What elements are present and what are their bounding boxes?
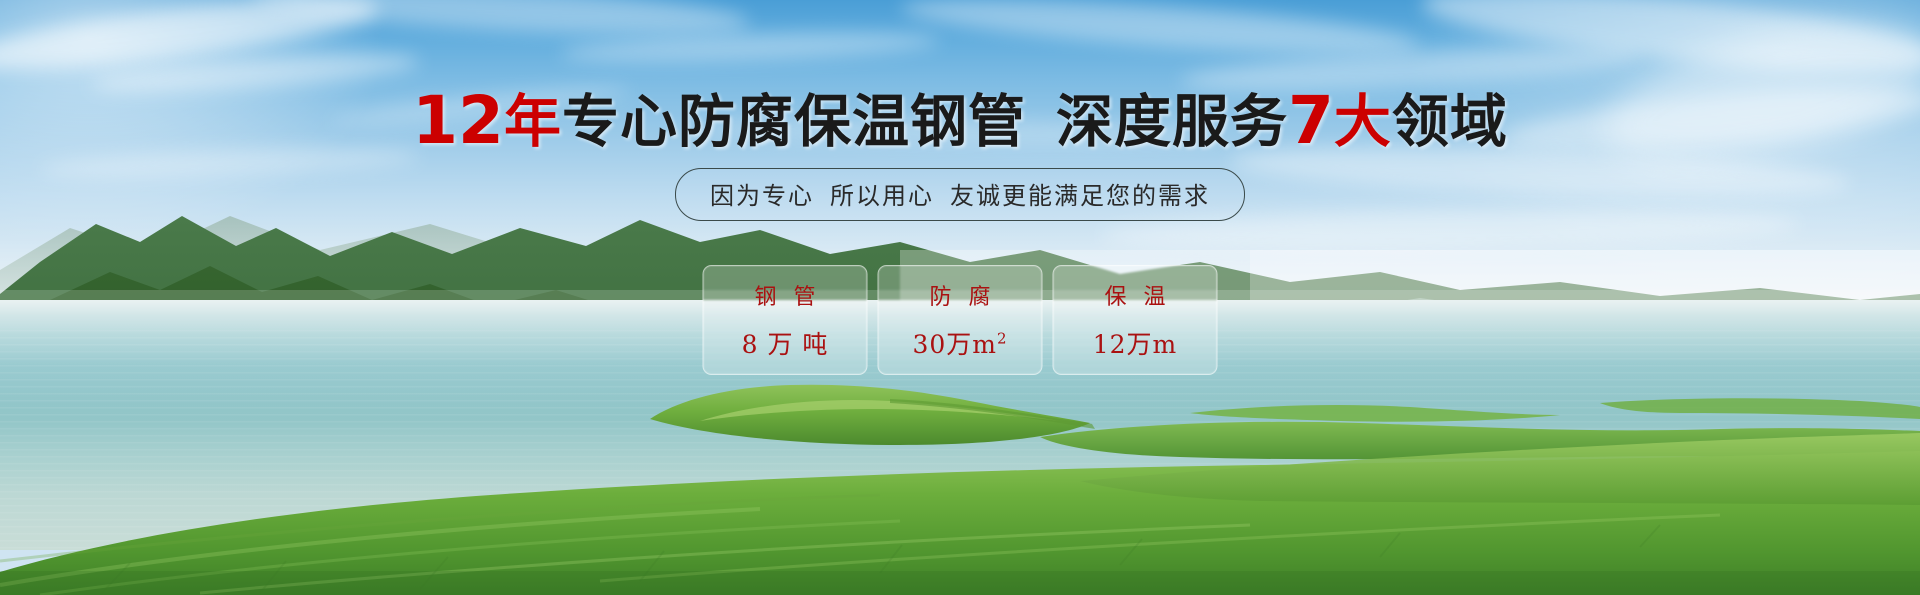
- stat-value-text: 8 万 吨: [742, 330, 829, 359]
- subtitle-part-3: 友诚更能满足您的需求: [950, 182, 1210, 210]
- stat-card-title: 防 腐: [925, 279, 996, 311]
- headline-years-unit: 年: [504, 89, 562, 155]
- headline-main-text: 专心防腐保温钢管: [562, 89, 1026, 155]
- hero-banner: 12年专心防腐保温钢管深度服务7大领域 因为专心所以用心友诚更能满足您的需求 钢…: [0, 0, 1920, 595]
- banner-headline: 12年专心防腐保温钢管深度服务7大领域: [0, 88, 1920, 154]
- stat-card-title: 钢 管: [750, 279, 821, 311]
- stat-card-value: 12万m: [1093, 325, 1178, 361]
- subtitle-part-2: 所以用心: [830, 182, 934, 210]
- banner-subtitle-pill: 因为专心所以用心友诚更能满足您的需求: [675, 168, 1245, 221]
- headline-service-text: 深度服务: [1056, 89, 1288, 155]
- headline-fields-unit: 大: [1334, 89, 1392, 155]
- stat-value-text: 12万m: [1093, 330, 1178, 359]
- stat-value-text: 30万m: [912, 330, 997, 359]
- stat-card-value: 8 万 吨: [742, 325, 829, 361]
- subtitle-part-1: 因为专心: [710, 182, 814, 210]
- stat-card-steel-pipe: 钢 管 8 万 吨: [703, 265, 868, 375]
- headline-fields-number: 7: [1288, 82, 1334, 159]
- stat-card-title: 保 温: [1100, 279, 1171, 311]
- stat-card-list: 钢 管 8 万 吨 防 腐 30万m2 保 温 12万m: [703, 265, 1218, 375]
- stat-card-value: 30万m2: [912, 325, 1007, 361]
- stat-value-superscript: 2: [997, 330, 1008, 348]
- stat-card-anticorrosion: 防 腐 30万m2: [878, 265, 1043, 375]
- stat-card-insulation: 保 温 12万m: [1053, 265, 1218, 375]
- banner-content: 12年专心防腐保温钢管深度服务7大领域 因为专心所以用心友诚更能满足您的需求 钢…: [0, 0, 1920, 595]
- headline-years-number: 12: [412, 82, 504, 159]
- headline-fields-tail: 领域: [1392, 89, 1508, 155]
